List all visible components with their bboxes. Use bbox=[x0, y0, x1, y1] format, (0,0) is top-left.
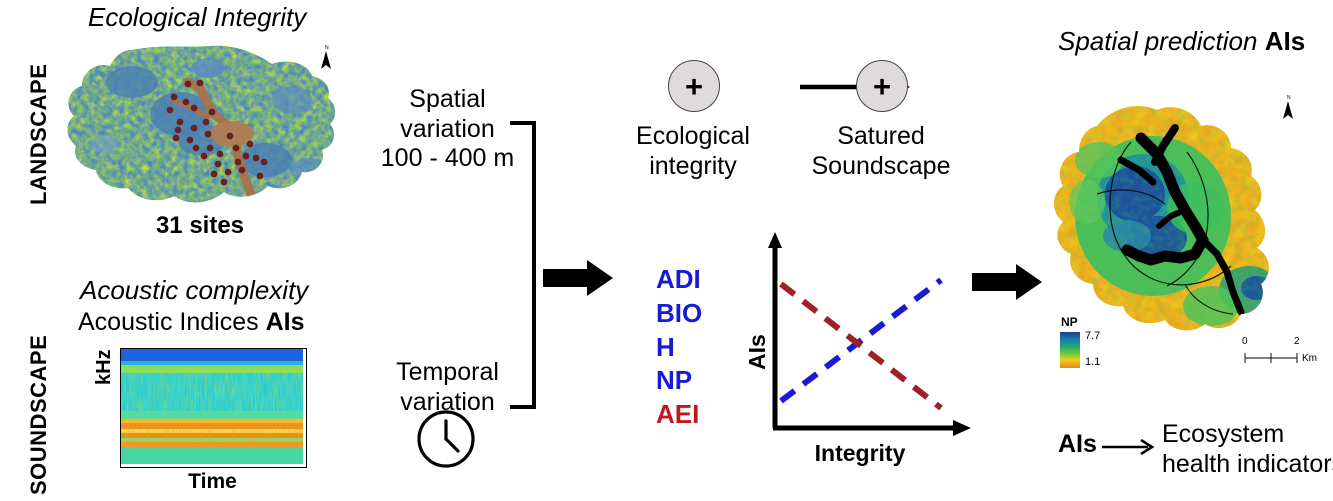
soundscape-title-plain: Acoustic Indices bbox=[78, 308, 259, 336]
conclusion-target-line2: health indicators bbox=[1162, 449, 1333, 479]
soundscape-title-bold: AIs bbox=[266, 308, 305, 336]
conclusion-target-line1: Ecosystem bbox=[1162, 419, 1333, 449]
legend-min-value: 1.1 bbox=[1085, 356, 1100, 368]
flow-arrow-2-icon bbox=[972, 262, 1044, 302]
spatial-variation-line3: 100 - 400 m bbox=[370, 144, 525, 174]
prediction-title-row: Spatial prediction AIs bbox=[1058, 26, 1305, 57]
index-item-aei: AEI bbox=[656, 398, 702, 432]
conclusion-target-label: Ecosystem health indicators bbox=[1162, 419, 1333, 479]
plus-icon: + bbox=[685, 71, 703, 102]
scalebar-start-label: 0 bbox=[1242, 336, 1248, 347]
chart-xaxis-label: Integrity bbox=[760, 440, 960, 467]
scalebar-unit-label: Km bbox=[1302, 353, 1317, 364]
north-arrow-icon: N bbox=[316, 42, 336, 70]
spectrogram-image bbox=[120, 348, 307, 468]
spatial-variation-line2: variation bbox=[370, 115, 525, 145]
acoustic-indices-list: ADI BIO H NP AEI bbox=[656, 263, 702, 432]
sidebar-item-soundscape: SOUNDSCAPE bbox=[26, 335, 52, 495]
satured-soundscape-caption-line2: Soundscape bbox=[790, 152, 972, 182]
sidebar-item-landscape-label: LANDSCAPE bbox=[26, 64, 51, 205]
flow-arrow-1-icon bbox=[543, 258, 615, 298]
legend-title: NP bbox=[1061, 315, 1078, 329]
scalebar-mid-label: 2 bbox=[1294, 336, 1300, 347]
legend-color-ramp bbox=[1060, 332, 1082, 368]
prediction-title-italic: Spatial prediction bbox=[1058, 26, 1257, 56]
index-item-h: H bbox=[656, 331, 702, 365]
svg-text:N: N bbox=[325, 45, 329, 51]
index-item-adi: ADI bbox=[656, 263, 702, 297]
satured-soundscape-caption: Satured Soundscape bbox=[790, 122, 972, 181]
index-item-bio: BIO bbox=[656, 297, 702, 331]
north-arrow-icon: N bbox=[1278, 92, 1298, 120]
legend-max-value: 7.7 bbox=[1085, 330, 1100, 342]
ecological-integrity-map bbox=[60, 42, 350, 217]
temporal-variation-line1: Temporal bbox=[370, 358, 525, 388]
index-item-np: NP bbox=[656, 364, 702, 398]
plus-icon: + bbox=[873, 71, 891, 102]
ecological-integrity-caption: Ecological integrity bbox=[608, 122, 778, 181]
scalebar bbox=[1243, 348, 1307, 364]
spatial-variation-label: Spatial variation 100 - 400 m bbox=[370, 85, 525, 174]
ecological-integrity-caption-line1: Ecological bbox=[608, 122, 778, 152]
chart-series-positive-indices bbox=[781, 280, 941, 401]
soundscape-title-plain-row: Acoustic Indices AIs bbox=[78, 308, 305, 337]
satured-soundscape-caption-line1: Satured bbox=[790, 122, 972, 152]
clock-icon bbox=[415, 408, 477, 470]
soundscape-title-italic: Acoustic complexity bbox=[80, 275, 308, 306]
arrow-right-icon bbox=[1102, 438, 1158, 456]
spatial-prediction-map bbox=[1035, 98, 1300, 333]
svg-text:N: N bbox=[1287, 95, 1291, 101]
spectrogram-xaxis-label: Time bbox=[120, 470, 305, 494]
spatial-variation-line1: Spatial bbox=[370, 85, 525, 115]
satured-soundscape-plus-badge: + bbox=[856, 60, 908, 112]
sidebar-item-soundscape-label: SOUNDSCAPE bbox=[26, 335, 51, 495]
conclusion-source-label: AIs bbox=[1058, 430, 1097, 459]
variation-bracket bbox=[508, 120, 544, 410]
sidebar-item-landscape: LANDSCAPE bbox=[26, 64, 52, 205]
chart-series-aei bbox=[781, 284, 941, 408]
ecological-integrity-plus-badge: + bbox=[668, 60, 720, 112]
spectrogram-yaxis-label: kHz bbox=[93, 349, 116, 385]
landscape-title: Ecological Integrity bbox=[88, 2, 306, 33]
chart-yaxis-label: AIs bbox=[744, 334, 771, 370]
ecological-integrity-caption-line2: integrity bbox=[608, 152, 778, 182]
landscape-map-caption: 31 sites bbox=[100, 212, 300, 240]
ais-integrity-chart bbox=[745, 228, 985, 443]
prediction-title-bold: AIs bbox=[1265, 26, 1305, 56]
